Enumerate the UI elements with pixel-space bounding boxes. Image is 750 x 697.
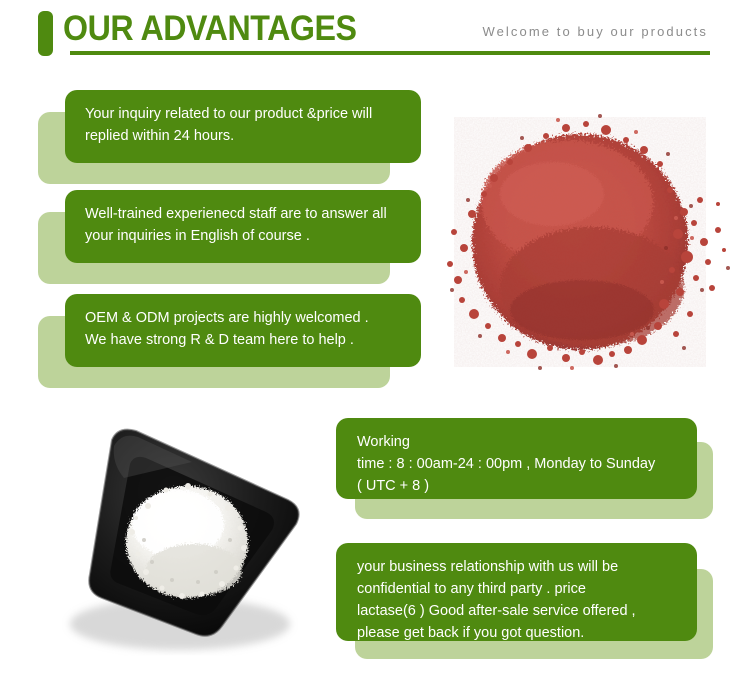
advantage-item-oem-odm: OEM & ODM projects are highly welcomed .… [0, 294, 430, 399]
advantage-item-inquiry-response: Your inquiry related to our product &pri… [0, 90, 430, 190]
advantage-item-working-time: Working time : 8 : 00am-24 : 00pm , Mond… [330, 418, 730, 538]
page-title: OUR ADVANTAGES [63, 8, 357, 50]
title-accent-bar [38, 11, 53, 56]
advantages-page: OUR ADVANTAGES Welcome to buy our produc… [0, 0, 750, 697]
advantage-item-trained-staff: Well-trained experienecd staff are to an… [0, 190, 430, 295]
white-powder-illustration [52, 412, 337, 662]
red-powder-pile-photo [432, 82, 742, 407]
red-powder-illustration [432, 82, 742, 407]
white-powder-black-dish-photo [52, 412, 337, 662]
page-header: OUR ADVANTAGES Welcome to buy our produc… [0, 0, 750, 70]
advantage-text: Well-trained experienecd staff are to an… [85, 203, 405, 247]
advantage-text: Your inquiry related to our product &pri… [85, 103, 405, 147]
advantage-text: OEM & ODM projects are highly welcomed .… [85, 307, 405, 351]
title-underline-rule [70, 51, 710, 55]
advantage-text: Working time : 8 : 00am-24 : 00pm , Mond… [357, 431, 697, 497]
page-subtitle: Welcome to buy our products [482, 24, 708, 39]
advantage-text: your business relationship with us will … [357, 556, 697, 644]
advantage-item-confidentiality: your business relationship with us will … [330, 543, 730, 678]
